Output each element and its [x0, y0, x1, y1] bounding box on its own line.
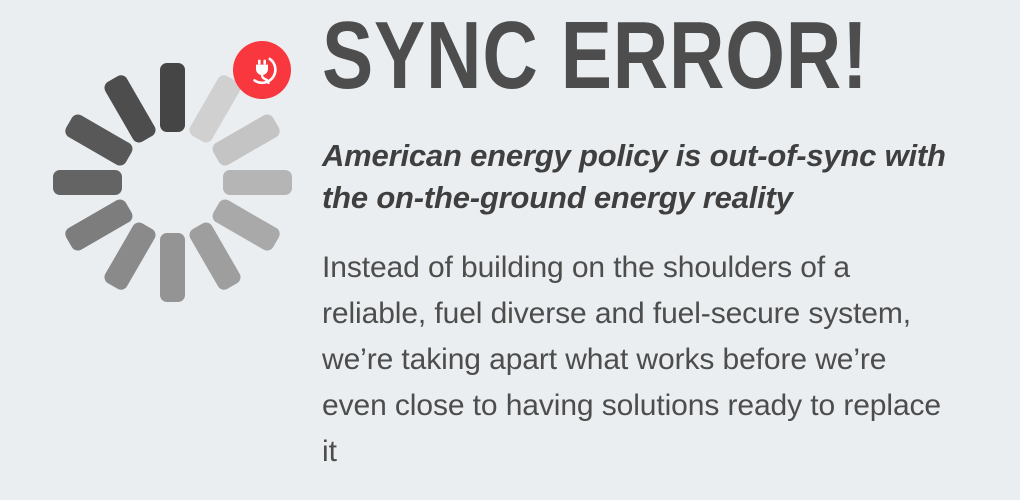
spinner-blade: [53, 170, 122, 195]
body-paragraph: Instead of building on the shoulders of …: [322, 245, 942, 475]
spinner-graphic: [52, 62, 292, 302]
page-title: SYNC ERROR!: [322, 8, 868, 104]
power-plug-disconnected-icon: [233, 41, 291, 99]
sync-error-banner: SYNC ERROR! American energy policy is ou…: [0, 0, 1020, 500]
spinner-blade: [160, 63, 185, 132]
spinner-blade: [160, 233, 185, 302]
text-column: SYNC ERROR! American energy policy is ou…: [322, 0, 982, 500]
spinner-blade: [223, 170, 292, 195]
subtitle: American energy policy is out-of-sync wi…: [322, 135, 962, 219]
